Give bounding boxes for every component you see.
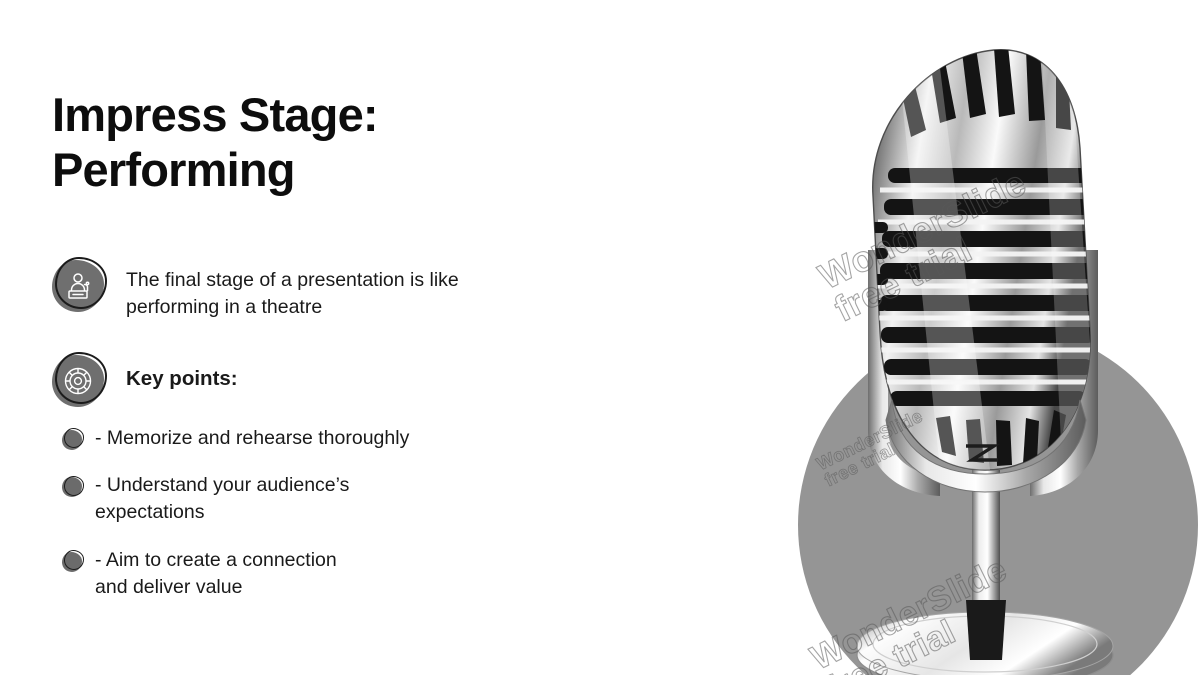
- key-points-row: Key points:: [52, 359, 572, 407]
- microphone-collar: [966, 600, 1006, 660]
- bullet-marker-icon: [62, 430, 82, 450]
- intro-row: The final stage of a presentation is lik…: [52, 264, 572, 321]
- list-item-label: - Understand your audience’s expectation…: [95, 472, 349, 525]
- bullet-outline-ring: [64, 476, 84, 496]
- bullet-marker-icon: [62, 477, 82, 497]
- presenter-at-lectern-icon: [52, 260, 104, 312]
- slide-artwork: WonderSlide free trial WonderSlide free …: [780, 0, 1200, 675]
- slide-canvas: Impress Stage: Performing The f: [0, 0, 1200, 675]
- list-item: - Understand your audience’s expectation…: [62, 472, 572, 525]
- list-item-label: - Aim to create a connection and deliver…: [95, 547, 337, 600]
- bullet-outline-ring: [64, 428, 84, 448]
- vintage-microphone-image: [780, 0, 1200, 675]
- slide-content: Impress Stage: Performing The f: [52, 88, 572, 600]
- content-rows: The final stage of a presentation is lik…: [52, 264, 572, 600]
- intro-text: The final stage of a presentation is lik…: [126, 264, 546, 321]
- target-wheel-icon: [52, 355, 104, 407]
- list-item-label: - Memorize and rehearse thoroughly: [95, 425, 409, 452]
- list-item: - Memorize and rehearse thoroughly: [62, 425, 572, 452]
- microphone-graphic: [780, 0, 1200, 675]
- list-item: - Aim to create a connection and deliver…: [62, 547, 572, 600]
- presenter-glyph: [62, 270, 94, 302]
- key-points-heading: Key points:: [126, 359, 238, 393]
- target-wheel-glyph: [62, 365, 94, 397]
- bullet-marker-icon: [62, 552, 82, 572]
- key-points-list: - Memorize and rehearse thoroughly - Und…: [62, 425, 572, 601]
- bullet-outline-ring: [64, 550, 84, 570]
- microphone-head: [858, 46, 1098, 492]
- page-title: Impress Stage: Performing: [52, 88, 572, 198]
